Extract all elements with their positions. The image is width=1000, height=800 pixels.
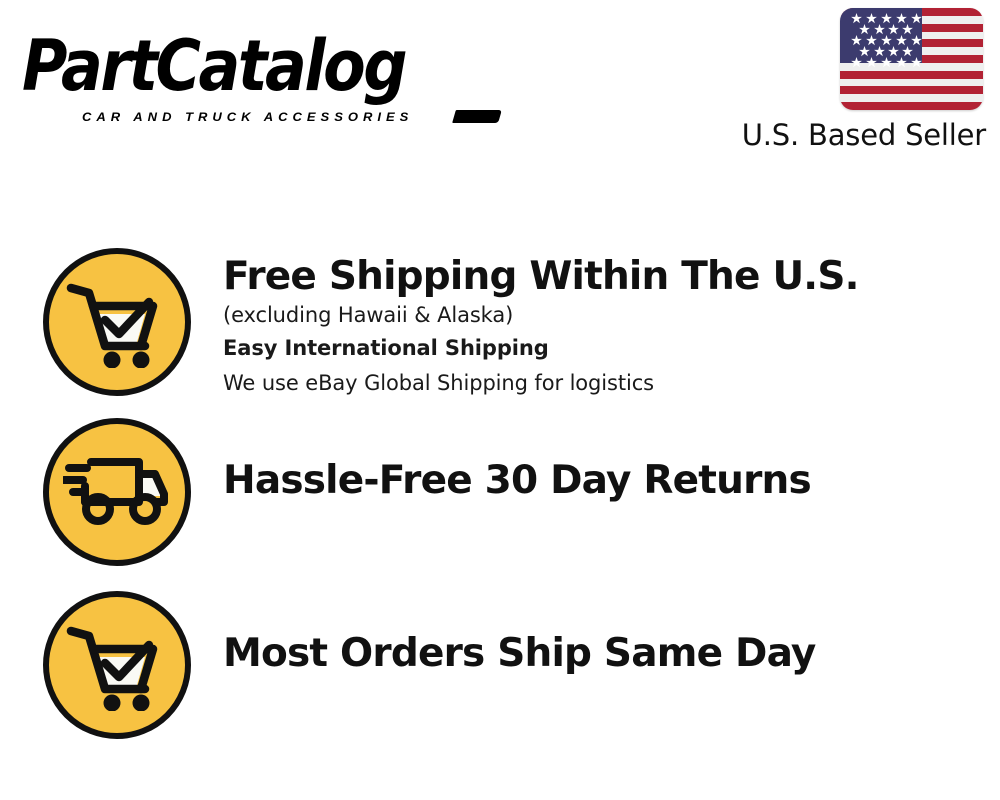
us-based-seller-label: U.S. Based Seller [742,118,986,152]
feature-subline: Easy International Shipping [223,330,1000,366]
feature-text: Free Shipping Within The U.S. (excluding… [223,248,1000,400]
delivery-truck-icon [43,418,191,566]
page-header: PartCatalog CAR AND TRUCK ACCESSORIES [0,0,1000,170]
feature-text: Hassle-Free 30 Day Returns [223,418,1000,504]
brand-tagline: CAR AND TRUCK ACCESSORIES [82,110,413,124]
us-flag-icon [840,8,983,110]
flag-canton [840,8,922,63]
feature-row: Most Orders Ship Same Day [0,591,1000,739]
feature-heading: Hassle-Free 30 Day Returns [223,458,1000,504]
shopping-cart-check-icon [43,591,191,739]
feature-row: Hassle-Free 30 Day Returns [0,418,1000,566]
logo-swoosh-accent [452,110,502,123]
shopping-cart-check-icon [43,248,191,396]
feature-row: Free Shipping Within The U.S. (excluding… [0,248,1000,400]
feature-text: Most Orders Ship Same Day [223,591,1000,677]
feature-subline: (excluding Hawaii & Alaska) [223,300,1000,330]
brand-wordmark: PartCatalog [22,22,405,110]
brand-logo[interactable]: PartCatalog CAR AND TRUCK ACCESSORIES [22,22,492,114]
feature-heading: Free Shipping Within The U.S. [223,254,1000,300]
flag-star-row [840,8,922,19]
feature-heading: Most Orders Ship Same Day [223,631,1000,677]
feature-subline: We use eBay Global Shipping for logistic… [223,366,1000,400]
